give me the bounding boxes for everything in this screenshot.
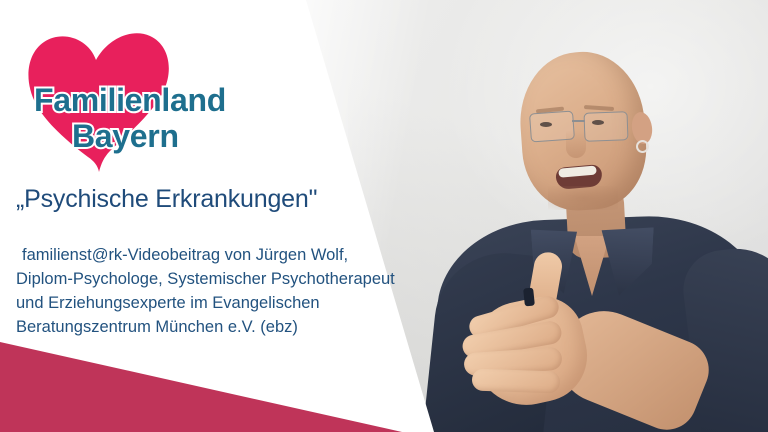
subtitle-line-2: Diplom-Psychologe, Systemischer Psychoth…	[16, 267, 416, 291]
subtitle-line-1: familienst@rk-Videobeitrag von Jürgen Wo…	[16, 243, 416, 267]
page-title: „Psychische Erkrankungen"	[16, 185, 317, 214]
subtitle-line-4: Beratungszentrum München e.V. (ebz)	[16, 315, 416, 339]
subtitle-block: familienst@rk-Videobeitrag von Jürgen Wo…	[16, 243, 416, 339]
video-title-card: Familienland Bayern „Psychische Erkranku…	[0, 0, 768, 432]
logo-line-bayern: Bayern	[72, 118, 179, 155]
chin-shadow	[548, 186, 618, 210]
teeth	[558, 165, 597, 177]
earring	[636, 140, 649, 153]
logo-wordmark: Familienland Bayern	[16, 24, 266, 172]
lapel-microphone	[523, 288, 535, 307]
nose	[566, 124, 586, 158]
logo-line-familienland: Familienland	[34, 82, 226, 119]
finger-little	[472, 368, 561, 393]
logo: Familienland Bayern	[16, 24, 266, 172]
subtitle-line-3: und Erziehungsexperte im Evangelischen	[16, 291, 416, 315]
lens-right	[584, 111, 629, 142]
